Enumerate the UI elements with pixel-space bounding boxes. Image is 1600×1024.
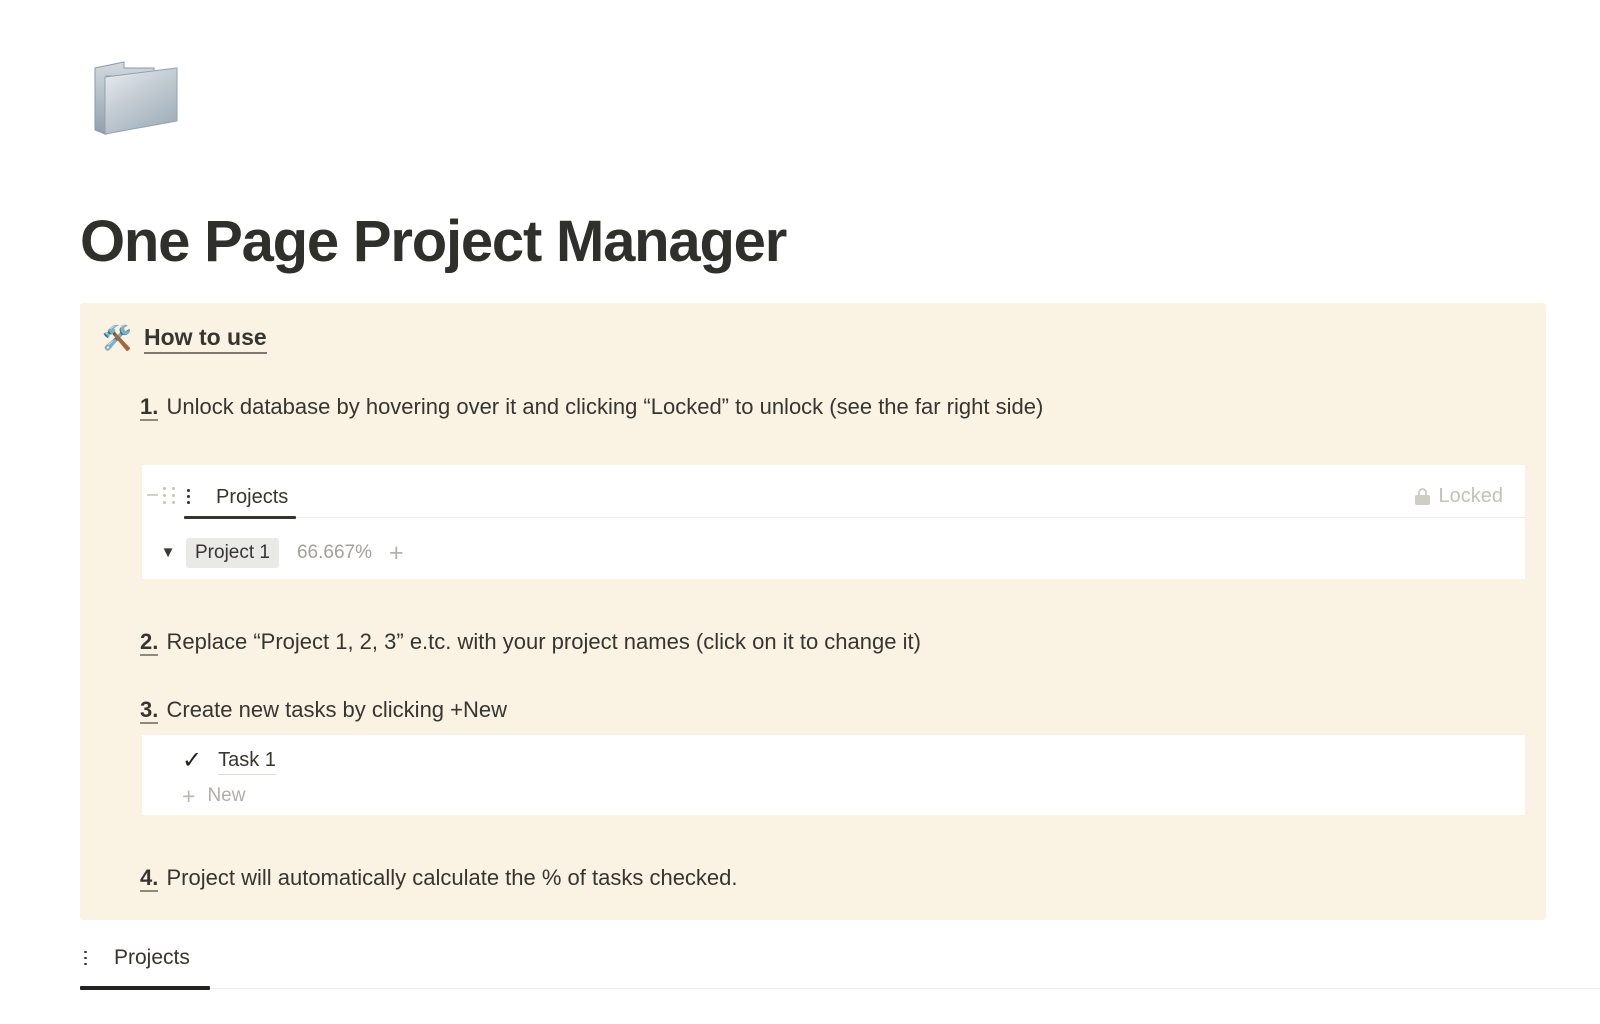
task-row[interactable]: ✓ Task 1 (182, 746, 276, 776)
instruction-step-3: 3. Create new tasks by clicking +New (140, 695, 507, 725)
lock-icon (1415, 488, 1430, 505)
page-title: One Page Project Manager (80, 208, 786, 276)
new-task-button[interactable]: + New (182, 783, 245, 809)
instruction-step-4: 4. Project will automatically calculate … (140, 863, 738, 893)
lock-toggle[interactable]: Locked (1415, 483, 1504, 509)
bottom-active-tab-underline (80, 986, 210, 990)
tabbar-divider (296, 517, 1525, 518)
step-text: Create new tasks by clicking +New (166, 697, 507, 722)
step-number: 1. (140, 394, 158, 421)
callout-header: 🛠️ How to use (102, 323, 267, 354)
drag-handle-icon[interactable] (163, 487, 176, 505)
tasks-database-preview: ✓ Task 1 + New (142, 735, 1525, 815)
instruction-step-2: 2. Replace “Project 1, 2, 3” e.tc. with … (140, 627, 921, 657)
step-number: 4. (140, 865, 158, 892)
project-name-chip[interactable]: Project 1 (186, 538, 279, 568)
folder-icon[interactable] (86, 46, 186, 146)
project-percent: 66.667% (297, 541, 372, 565)
expand-toggle-icon[interactable]: ▼ (158, 544, 178, 562)
instruction-step-1: 1. Unlock database by hovering over it a… (140, 392, 1043, 422)
callout-heading: How to use (144, 323, 267, 354)
new-task-label: New (207, 784, 245, 808)
add-row-icon[interactable]: + (389, 541, 404, 565)
bottom-tabbar-divider (210, 988, 1600, 989)
list-icon (187, 489, 206, 504)
database-toolbar: Projects Locked (142, 465, 1525, 527)
step-number: 3. (140, 697, 158, 724)
bottom-tab-label: Projects (114, 946, 190, 970)
page-root: One Page Project Manager 🛠️ How to use 1… (0, 0, 1600, 1024)
step-text: Unlock database by hovering over it and … (166, 394, 1043, 419)
step-text: Replace “Project 1, 2, 3” e.tc. with you… (166, 629, 920, 654)
check-icon[interactable]: ✓ (182, 747, 202, 775)
step-number: 2. (140, 629, 158, 656)
plus-icon: + (182, 784, 195, 808)
database-tab-projects[interactable]: Projects (187, 481, 288, 512)
list-icon (84, 951, 103, 966)
projects-database-preview: Projects Locked ▼ Project 1 66.667% + (142, 465, 1525, 579)
active-tab-underline (184, 516, 296, 519)
how-to-use-callout: 🛠️ How to use 1. Unlock database by hove… (80, 303, 1546, 920)
locked-label: Locked (1439, 484, 1504, 508)
database-row-project-1: ▼ Project 1 66.667% + (142, 527, 404, 579)
database-tab-label: Projects (216, 485, 288, 509)
collapse-dash-icon[interactable] (147, 494, 158, 496)
hammer-and-wrench-icon: 🛠️ (102, 325, 130, 353)
bottom-tabbar: Projects (0, 938, 1600, 990)
step-text: Project will automatically calculate the… (166, 865, 737, 890)
task-label[interactable]: Task 1 (218, 747, 276, 775)
bottom-tab-projects[interactable]: Projects (84, 942, 190, 974)
